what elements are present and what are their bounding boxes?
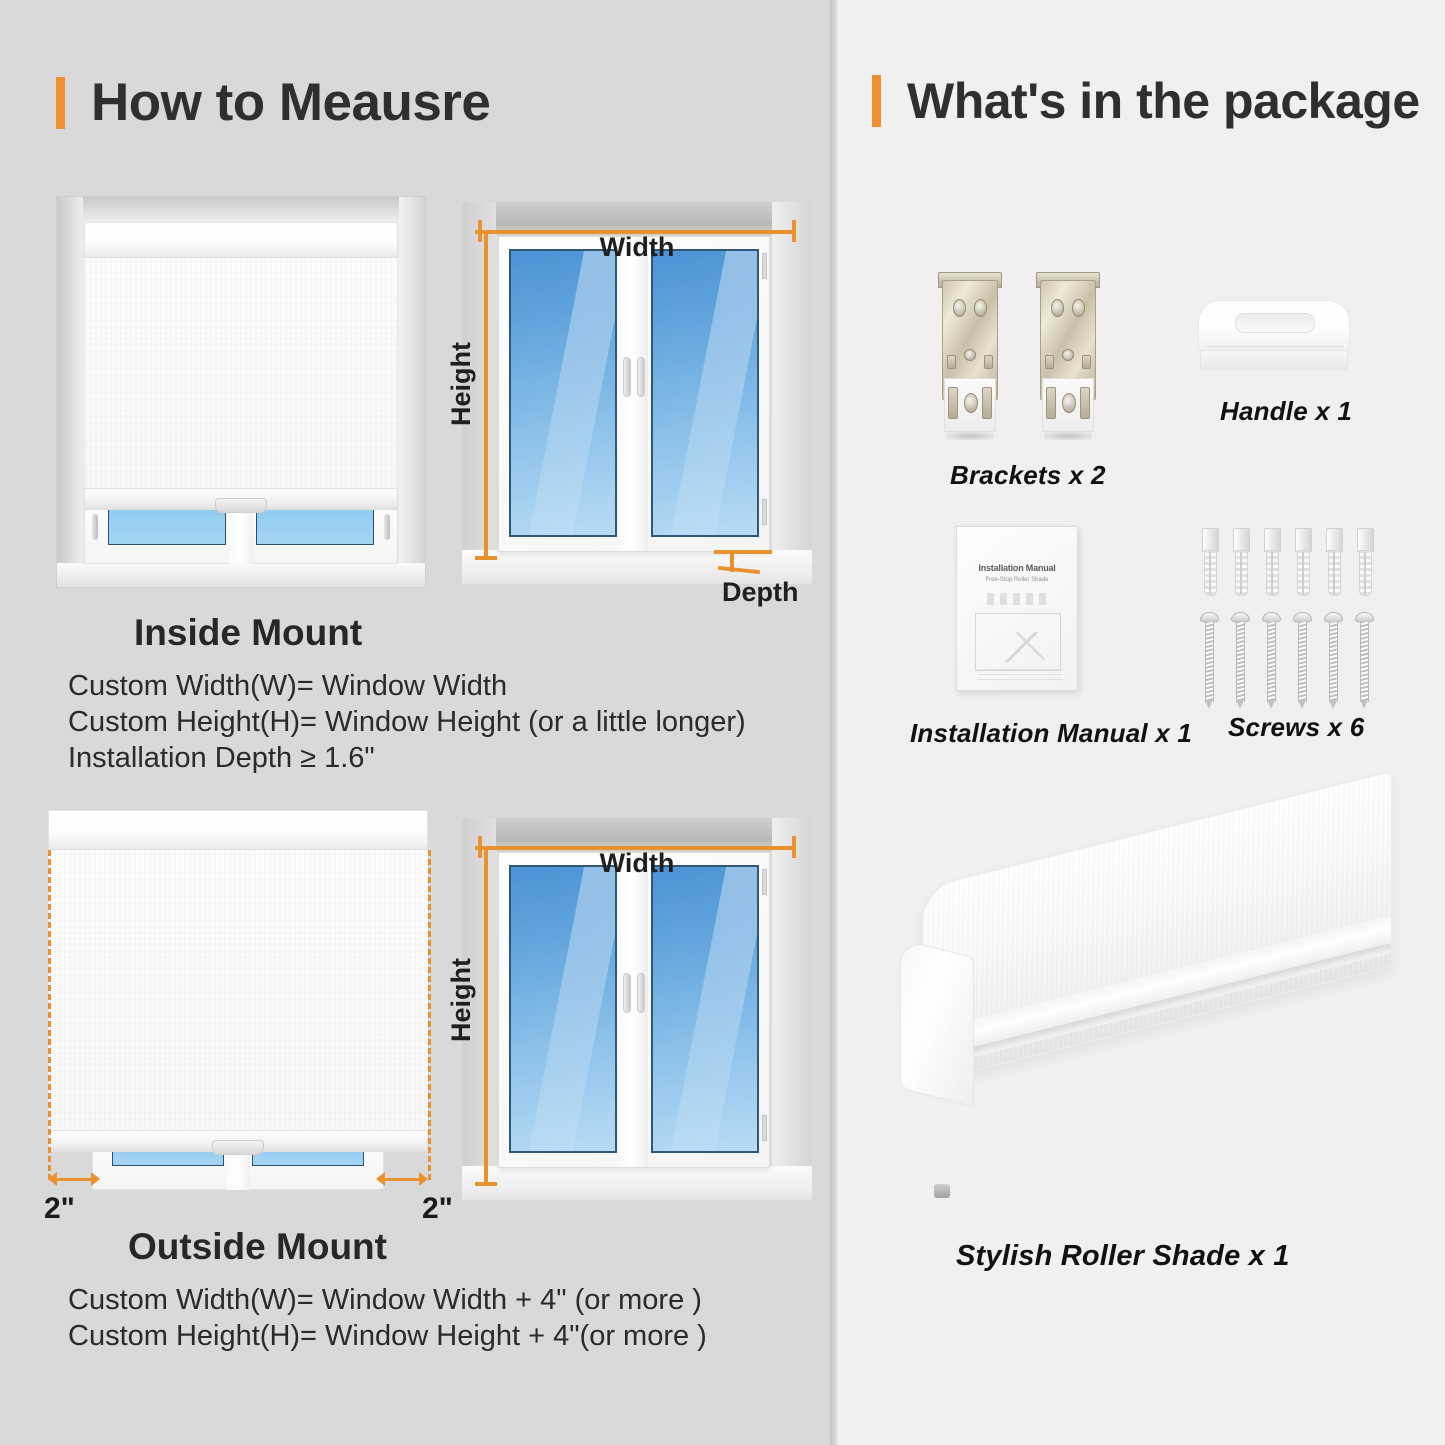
depth-measure-line <box>714 550 772 554</box>
package-title: What's in the package <box>907 72 1420 130</box>
package-contents-panel: What's in the package <box>838 0 1445 1445</box>
inside-mount-title: Inside Mount <box>134 612 362 654</box>
accent-bar-icon <box>56 77 65 129</box>
shade-fabric <box>84 258 398 490</box>
wall-anchor <box>1293 528 1314 596</box>
window-hinge-bottom <box>762 499 767 525</box>
outside-shade-pull-handle[interactable] <box>212 1140 264 1155</box>
wall-anchor <box>1324 528 1345 596</box>
arrow-line <box>384 1178 420 1181</box>
how-to-measure-panel: How to Meausre <box>0 0 838 1445</box>
bracket-base-plate <box>1042 378 1094 432</box>
window-hinge-top <box>762 253 767 279</box>
overhang-label-left: 2" <box>44 1192 75 1226</box>
roller-shade-product <box>900 880 1392 1210</box>
window-handle-left[interactable] <box>623 357 631 397</box>
shade-cassette <box>84 222 398 258</box>
bracket-hole <box>1072 299 1085 317</box>
window-hinge-top <box>762 869 767 895</box>
arrow-line <box>56 1178 92 1181</box>
roller-shade-outside <box>48 810 428 1158</box>
bracket-item <box>938 272 1002 432</box>
bracket-hole <box>974 299 987 317</box>
bracket-hole <box>1051 299 1064 317</box>
window-pane-left <box>509 865 617 1153</box>
bracket-shadow <box>1044 432 1092 440</box>
bracket-keyhole <box>964 393 978 413</box>
screw <box>1293 612 1312 708</box>
window-pane-right <box>651 249 759 537</box>
overhang-guide-left <box>48 850 51 1180</box>
inside-mount-illustration <box>56 196 426 588</box>
window-frame <box>498 236 770 552</box>
window-frame <box>498 852 770 1168</box>
roller-shade-end-cap <box>900 939 974 1107</box>
inside-mount-line-1: Custom Width(W)= Window Width <box>68 670 507 703</box>
outside-mount-line-1: Custom Width(W)= Window Width + 4" (or m… <box>68 1284 702 1317</box>
outside-shade-fabric <box>48 850 428 1132</box>
outside-mount-illustration: 2" 2" <box>36 810 440 1202</box>
outside-mount-title: Outside Mount <box>128 1226 387 1268</box>
height-cap-top <box>475 846 497 850</box>
recess-right-jamb <box>399 197 425 587</box>
handle-body <box>1198 300 1350 352</box>
manual-cover-image-box <box>975 613 1061 671</box>
width-cap-right <box>792 220 796 242</box>
width-label: Width <box>600 848 675 879</box>
handle-base <box>1200 350 1348 370</box>
roller-shade-inside <box>84 222 398 512</box>
roller-shade-label: Stylish Roller Shade x 1 <box>956 1240 1290 1273</box>
bracket-slot <box>1045 355 1054 369</box>
how-to-measure-title: How to Meausre <box>91 72 490 133</box>
bracket-side-slot <box>982 387 992 419</box>
sash-handle-right <box>384 514 390 540</box>
sash-handle-left <box>92 514 98 540</box>
outside-mount-line-2: Custom Height(H)= Window Height + 4"(or … <box>68 1320 707 1353</box>
bracket-item <box>1036 272 1100 432</box>
handle-item <box>1198 300 1350 374</box>
inside-mount-window-diagram: Width Height Depth <box>462 202 812 584</box>
overhang-arrow-left <box>48 1172 100 1186</box>
width-label: Width <box>600 232 675 263</box>
bracket-slot <box>947 355 956 369</box>
bracket-hole <box>953 299 966 317</box>
screws-label: Screws x 6 <box>1228 712 1364 743</box>
bracket-base-plate <box>944 378 996 432</box>
brackets-label: Brackets x 2 <box>950 460 1106 491</box>
screw <box>1231 612 1250 708</box>
arrow-head-right-icon <box>91 1172 100 1186</box>
height-measure-line <box>484 230 488 560</box>
how-to-measure-heading: How to Meausre <box>56 72 490 133</box>
manual-cover-subtitle: Free-Stop Roller Shade <box>957 577 1077 583</box>
infographic-page: How to Meausre <box>0 0 1445 1445</box>
bracket-hole <box>964 349 976 361</box>
recess-left-jamb <box>57 197 83 587</box>
handle-label: Handle x 1 <box>1220 396 1352 427</box>
overhang-arrow-right <box>376 1172 428 1186</box>
handle-seam <box>1204 346 1344 347</box>
window-pane-left <box>509 249 617 537</box>
window-hinge-bottom <box>762 1115 767 1141</box>
bracket-slot <box>1082 355 1091 369</box>
outside-shade-cassette <box>48 810 428 850</box>
outside-mount-window-diagram: Width Height <box>462 818 812 1200</box>
screw <box>1324 612 1343 708</box>
installation-manual-item: Installation Manual Free-Stop Roller Sha… <box>956 526 1078 691</box>
inside-mount-line-3: Installation Depth ≥ 1.6" <box>68 742 375 775</box>
window-right-wall <box>772 202 812 584</box>
bracket-keyhole <box>1062 393 1076 413</box>
window-handle-left[interactable] <box>623 973 631 1013</box>
window-pane-right <box>651 865 759 1153</box>
window-handle-right[interactable] <box>637 357 645 397</box>
screw <box>1200 612 1219 708</box>
recess-head-jamb <box>57 197 425 223</box>
screw <box>1355 612 1374 708</box>
height-measure-line <box>484 846 488 1186</box>
overhang-label-right: 2" <box>422 1192 453 1226</box>
height-label: Height <box>446 958 477 1042</box>
bracket-side-slot <box>1080 387 1090 419</box>
package-heading: What's in the package <box>872 72 1420 130</box>
wall-anchor <box>1355 528 1376 596</box>
manual-cover-footer <box>977 668 1063 680</box>
bracket-hole <box>1062 349 1074 361</box>
depth-label: Depth <box>722 577 799 608</box>
bracket-shadow <box>946 432 994 440</box>
roller-shade-end-pin <box>934 1184 950 1198</box>
window-sill <box>462 1166 812 1200</box>
installation-manual-label: Installation Manual x 1 <box>910 718 1192 749</box>
wall-anchor <box>1200 528 1221 596</box>
window-handle-right[interactable] <box>637 973 645 1013</box>
shade-pull-handle[interactable] <box>215 498 267 513</box>
bracket-side-slot <box>1046 387 1056 419</box>
height-label: Height <box>446 342 477 426</box>
bracket-slot <box>984 355 993 369</box>
arrow-head-right-icon <box>419 1172 428 1186</box>
height-cap-bottom <box>475 1182 497 1186</box>
bracket-side-slot <box>948 387 958 419</box>
manual-cover-scribble <box>987 593 1049 605</box>
screw <box>1262 612 1281 708</box>
recess-sill <box>57 563 425 587</box>
wall-anchor <box>1231 528 1252 596</box>
wall-anchor <box>1262 528 1283 596</box>
manual-cover-title: Installation Manual <box>957 563 1077 573</box>
inside-mount-line-2: Custom Height(H)= Window Height (or a li… <box>68 706 746 739</box>
accent-bar-icon <box>872 75 881 127</box>
height-cap-top <box>475 230 497 234</box>
width-cap-right <box>792 836 796 858</box>
handle-grip-slot <box>1235 313 1315 333</box>
window-right-wall <box>772 818 812 1200</box>
overhang-guide-right <box>428 850 431 1180</box>
height-cap-bottom <box>475 556 497 560</box>
